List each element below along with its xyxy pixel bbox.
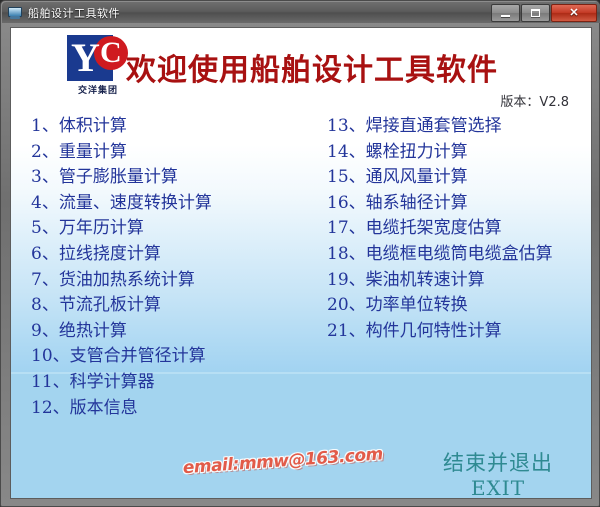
menu-item[interactable]: 10、支管合并管径计算 xyxy=(29,344,309,370)
version-label: 版本：V2.8 xyxy=(500,91,569,110)
menu-item[interactable]: 1、体积计算 xyxy=(29,114,309,140)
maximize-button[interactable] xyxy=(521,4,550,22)
exit-label-en: EXIT xyxy=(423,476,573,499)
menu-item[interactable]: 20、功率单位转换 xyxy=(311,293,592,319)
menu-item[interactable]: 11、科学计算器 xyxy=(29,370,309,396)
client-area: Y C 交洋集团 欢迎使用船舶设计工具软件 版本：V2.8 1、体积计算 2、重… xyxy=(10,27,592,499)
close-icon: ✕ xyxy=(569,8,578,19)
window-title: 船舶设计工具软件 xyxy=(28,5,120,21)
menu-item[interactable]: 2、重量计算 xyxy=(29,140,309,166)
menu-item[interactable]: 14、螺栓扭力计算 xyxy=(311,140,592,166)
menu-item[interactable]: 16、轴系轴径计算 xyxy=(311,191,592,217)
menu-item[interactable]: 9、绝热计算 xyxy=(29,319,309,345)
menu-column-left: 1、体积计算 2、重量计算 3、管子膨胀量计算 4、流量、速度转换计算 5、万年… xyxy=(29,114,309,421)
exit-button[interactable]: 结束并退出 EXIT xyxy=(423,450,573,499)
menu-item[interactable]: 7、货油加热系统计算 xyxy=(29,268,309,294)
company-logo: Y C 交洋集团 xyxy=(67,35,130,98)
logo-letter-c: C xyxy=(100,36,122,70)
application-window: 船舶设计工具软件 ✕ Y C 交洋集团 欢迎使 xyxy=(0,0,600,507)
minimize-button[interactable] xyxy=(491,4,520,22)
menu-item[interactable]: 15、通风风量计算 xyxy=(311,165,592,191)
menu-item[interactable]: 19、柴油机转速计算 xyxy=(311,268,592,294)
menu-item[interactable]: 5、万年历计算 xyxy=(29,216,309,242)
title-bar: 船舶设计工具软件 ✕ xyxy=(2,2,600,23)
menu-item[interactable]: 17、电缆托架宽度估算 xyxy=(311,216,592,242)
logo-subtitle: 交洋集团 xyxy=(67,83,129,96)
close-button[interactable]: ✕ xyxy=(551,4,597,22)
window-controls: ✕ xyxy=(491,4,597,22)
menu-item[interactable]: 18、电缆框电缆筒电缆盒估算 xyxy=(311,242,592,268)
menu-item[interactable]: 13、焊接直通套管选择 xyxy=(311,114,592,140)
menu-item[interactable]: 4、流量、速度转换计算 xyxy=(29,191,309,217)
logo-letter-y: Y xyxy=(71,36,100,80)
page-title: 欢迎使用船舶设计工具软件 xyxy=(126,45,498,89)
menu-column-right: 13、焊接直通套管选择 14、螺栓扭力计算 15、通风风量计算 16、轴系轴径计… xyxy=(311,114,592,344)
header: Y C 交洋集团 欢迎使用船舶设计工具软件 版本：V2.8 xyxy=(11,28,591,110)
menu-item[interactable]: 3、管子膨胀量计算 xyxy=(29,165,309,191)
exit-label-cn: 结束并退出 xyxy=(423,450,573,476)
menu-item[interactable]: 6、拉线挠度计算 xyxy=(29,242,309,268)
maximize-icon xyxy=(531,9,540,17)
monitor-icon xyxy=(7,5,23,21)
menu-item[interactable]: 21、构件几何特性计算 xyxy=(311,319,592,345)
minimize-icon xyxy=(501,15,510,17)
menu-item[interactable]: 12、版本信息 xyxy=(29,396,309,422)
menu-item[interactable]: 8、节流孔板计算 xyxy=(29,293,309,319)
